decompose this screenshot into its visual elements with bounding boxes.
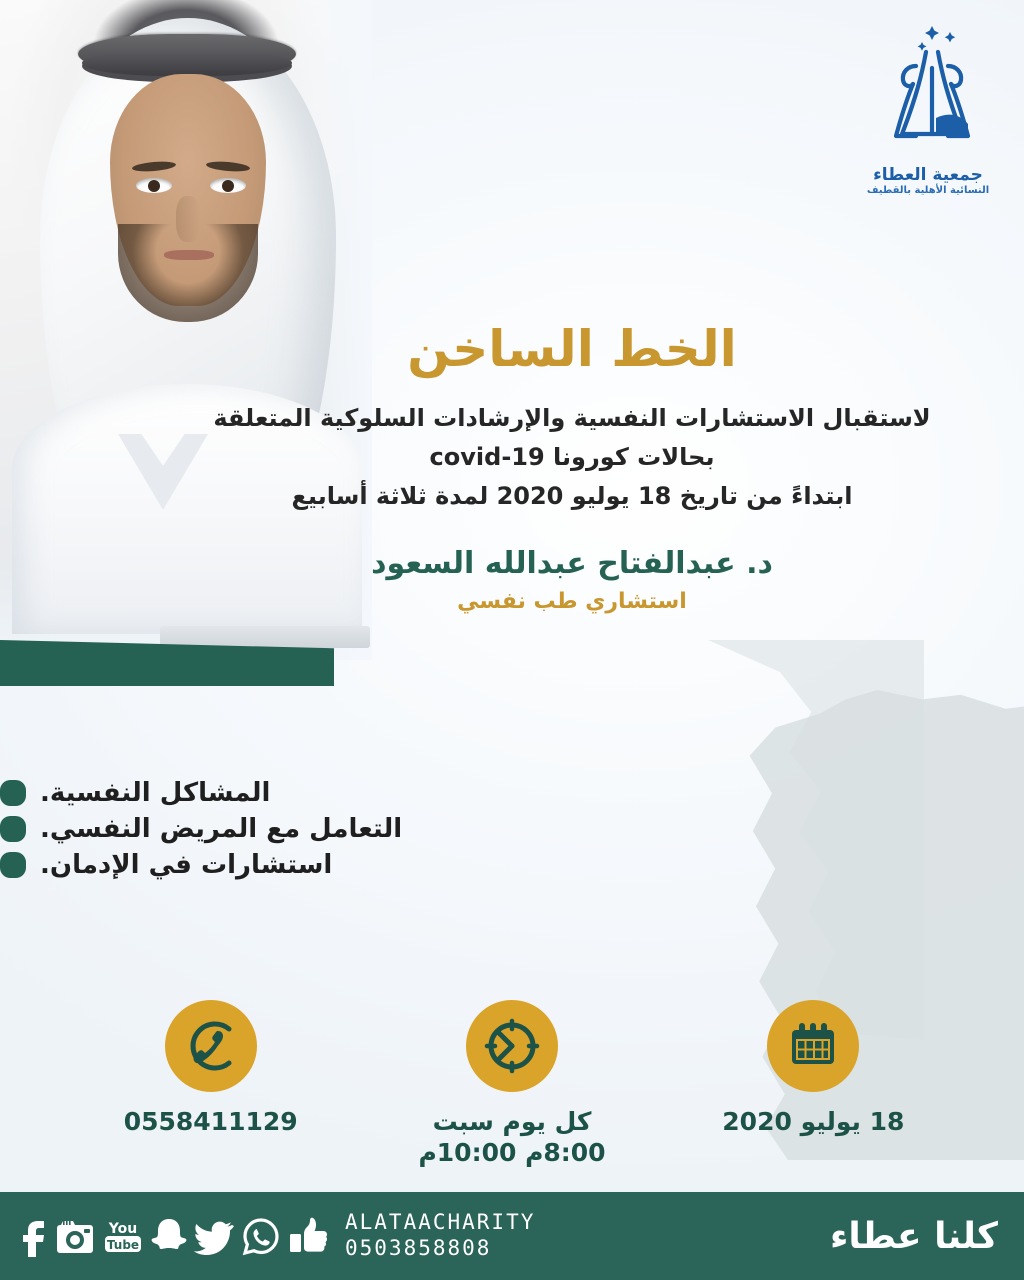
description-block: لاستقبال الاستشارات النفسية والإرشادات ا… (190, 399, 954, 516)
calendar-icon (785, 1018, 841, 1074)
agal-cord (78, 34, 296, 74)
corner-chevron-decoration (0, 0, 300, 215)
charity-logo: جمعية العطاء النسائية الأهلية بالقطيف (854, 22, 1002, 222)
time-day-value: كل يوم سبت (433, 1107, 592, 1136)
snapchat-icon[interactable] (151, 1215, 187, 1257)
eye-right (210, 178, 246, 193)
beard (118, 224, 258, 322)
list-item: التعامل مع المريض النفسي. (0, 814, 402, 844)
info-card-phone-label: 0558411129 (91, 1106, 331, 1137)
desk-surface (160, 626, 370, 648)
list-item: استشارات في الإدمان. (0, 850, 332, 880)
list-item: المشاكل النفسية. (0, 778, 270, 808)
description-line-3: ابتداءً من تاريخ 18 يوليو 2020 لمدة ثلاث… (190, 477, 954, 516)
nose (176, 196, 200, 242)
phone-number-value: 0558411129 (124, 1107, 298, 1136)
mouth (164, 250, 214, 260)
calendar-icon-badge (767, 1000, 859, 1092)
main-content: الخط الساخن لاستقبال الاستشارات النفسية … (0, 322, 1024, 614)
facebook-icon[interactable] (18, 1215, 48, 1257)
twitter-icon[interactable] (194, 1215, 234, 1257)
info-card-time: كل يوم سبت 8:00م 10:00م (392, 1000, 632, 1169)
doctor-name: د. عبدالفتاح عبدالله السعود (190, 546, 954, 581)
topic-label: استشارات في الإدمان. (40, 850, 332, 880)
instagram-icon[interactable] (55, 1215, 95, 1257)
clock-icon (483, 1017, 541, 1075)
doctor-specialty: استشاري طب نفسي (190, 589, 954, 614)
date-value: 18 يوليو 2020 (722, 1107, 904, 1136)
info-card-phone: 0558411129 (91, 1000, 331, 1137)
thumbs-up-icon[interactable] (288, 1215, 330, 1257)
topic-label: التعامل مع المريض النفسي. (40, 814, 402, 844)
page-title: الخط الساخن (190, 322, 954, 377)
green-accent-bar (0, 640, 334, 686)
bullet-dot-icon (0, 816, 26, 842)
footer-slogan: كلنا عطاء (830, 1216, 998, 1257)
contact-handle-block: ALATAACHARITY 0503858808 (345, 1210, 535, 1261)
youtube-icon[interactable]: You Tube (102, 1215, 144, 1257)
topics-list: المشاكل النفسية. التعامل مع المريض النفس… (0, 778, 1024, 880)
logo-subtitle: النسائية الأهلية بالقطيف (854, 185, 1002, 197)
eye-left (136, 178, 172, 193)
charity-handle: ALATAACHARITY (345, 1210, 535, 1236)
eyebrow-left (132, 160, 177, 173)
description-line-2: بحالات كورونا covid-19 (190, 438, 954, 477)
two-figures-stars-icon (872, 22, 984, 164)
info-cards-row: 18 يوليو 2020 (0, 1000, 1024, 1169)
eyebrow-right (206, 160, 251, 173)
corner-chevron-notch (0, 0, 120, 230)
poster-root: جمعية العطاء النسائية الأهلية بالقطيف ال… (0, 0, 1024, 1280)
svg-text:Tube: Tube (107, 1238, 139, 1252)
face (110, 74, 266, 306)
charity-phone: 0503858808 (345, 1236, 535, 1262)
bullet-dot-icon (0, 780, 26, 806)
bullet-dot-icon (0, 852, 26, 878)
phone-icon (182, 1017, 240, 1075)
info-card-date-label: 18 يوليو 2020 (693, 1106, 933, 1137)
topic-label: المشاكل النفسية. (40, 778, 270, 808)
info-card-time-label: كل يوم سبت 8:00م 10:00م (392, 1106, 632, 1169)
whatsapp-icon[interactable] (241, 1215, 281, 1257)
clock-icon-badge (466, 1000, 558, 1092)
time-hours-value: 8:00م 10:00م (392, 1137, 632, 1168)
footer-bar: You Tube ALATAACHARITY 0503858808 (0, 1192, 1024, 1280)
phone-icon-badge (165, 1000, 257, 1092)
svg-text:You: You (108, 1221, 137, 1237)
info-card-date: 18 يوليو 2020 (693, 1000, 933, 1137)
social-links: You Tube ALATAACHARITY 0503858808 (18, 1210, 535, 1261)
description-line-1: لاستقبال الاستشارات النفسية والإرشادات ا… (190, 399, 954, 438)
logo-name: جمعية العطاء (854, 166, 1002, 185)
